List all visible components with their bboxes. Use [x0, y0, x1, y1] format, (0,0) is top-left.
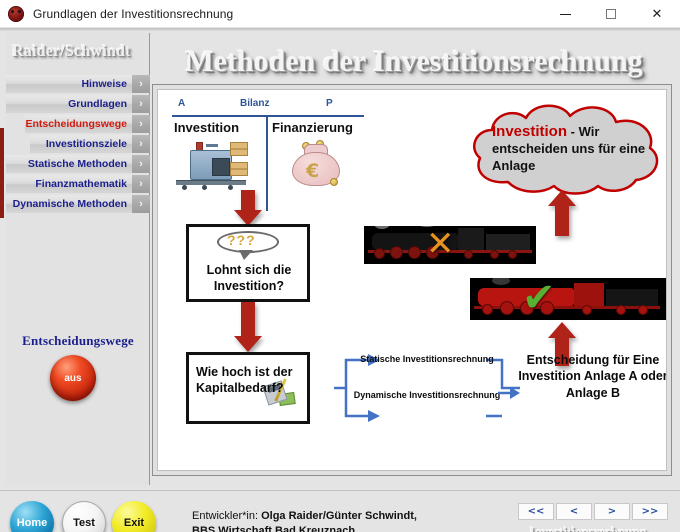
- sidebar-item-label: Grundlagen: [6, 95, 132, 113]
- content-stage: A Bilanz P Investition Finanzierung: [157, 89, 667, 471]
- chevron-right-icon: ›: [132, 135, 150, 153]
- sidebar-item-dynamische-methoden[interactable]: Dynamische Methoden ›: [6, 195, 150, 213]
- nav-last-button[interactable]: >>: [632, 503, 668, 520]
- exit-button[interactable]: Exit: [112, 501, 156, 532]
- maximize-button[interactable]: [588, 0, 634, 28]
- bilanz-center-label: Bilanz: [240, 98, 269, 109]
- machine-wheel: [228, 185, 233, 190]
- bubble-tail: [239, 250, 253, 260]
- arrow-shaft: [241, 302, 255, 336]
- speech-bubble-question-icon: ???: [217, 231, 283, 261]
- credits-names: Olga Raider/Günter Schwindt,: [261, 510, 417, 522]
- locomotive-wheel: [508, 250, 517, 259]
- question-box-text: Lohnt sich die Investition?: [196, 263, 302, 294]
- arrow-shaft: [241, 190, 255, 210]
- home-button[interactable]: Home: [10, 501, 54, 532]
- arrow-down-lohnt-icon: [234, 302, 262, 352]
- sidebar-section-title: Entscheidungswege: [6, 333, 150, 349]
- locomotive-wheel: [374, 248, 385, 259]
- chevron-right-icon: ›: [132, 175, 150, 193]
- smoke-puff: [374, 226, 390, 229]
- cross-mark-icon: ✕: [426, 230, 456, 260]
- nav-prev-button[interactable]: <: [556, 503, 592, 520]
- question-marks: ???: [227, 232, 256, 248]
- sidebar-item-label: Dynamische Methoden: [6, 195, 132, 213]
- arrow-head: [548, 190, 576, 206]
- bilanz-diagram: A Bilanz P Investition Finanzierung: [168, 96, 368, 214]
- sidebar-item-hinweise[interactable]: Hinweise ›: [6, 75, 150, 93]
- chevron-right-icon: ›: [132, 155, 150, 173]
- locomotive-wheel: [582, 305, 592, 315]
- bilanz-horizontal-rule: [172, 115, 364, 117]
- credits-institution: BBS Wirtschaft Bad Kreuznach: [192, 525, 355, 532]
- close-button[interactable]: ✕: [634, 0, 680, 28]
- chevron-right-icon: ›: [132, 115, 150, 133]
- flow-out-arrow-icon: [498, 386, 520, 400]
- minimize-icon: [560, 14, 571, 15]
- window-titlebar: Grundlagen der Investitionsrechnung ✕: [0, 0, 680, 28]
- coin-icon: [330, 178, 338, 186]
- sidebar-item-label: Investitionsziele: [30, 135, 132, 153]
- sidebar: Raider/Schwindt Hinweise › Grundlagen › …: [6, 33, 150, 485]
- locomotive-cab: [458, 228, 484, 250]
- red-locomotive-image: ✔: [470, 278, 666, 320]
- bilanz-left-word: Investition: [174, 120, 239, 135]
- package-box-icon: [230, 142, 248, 156]
- locomotive-wheel: [390, 246, 403, 259]
- money-bag-euro-clipart: €: [286, 140, 350, 190]
- navigation-arrows: << < > >>: [518, 503, 668, 520]
- credits-text: Entwickler*in: Olga Raider/Günter Schwin…: [192, 509, 492, 532]
- locomotive-wheel: [638, 305, 648, 315]
- machine-door: [212, 158, 230, 176]
- check-mark-icon: ✔: [522, 280, 556, 316]
- sidebar-item-label: Hinweise: [6, 75, 132, 93]
- locomotive-tender: [606, 289, 658, 306]
- sidebar-brand: Raider/Schwindt: [12, 43, 148, 61]
- cloud-highlight: Investition: [492, 123, 567, 140]
- locomotive-wheel: [490, 250, 499, 259]
- left-accent-strip: [0, 128, 4, 218]
- arrow-down-bilanz-icon: [234, 190, 262, 226]
- sidebar-item-statische-methoden[interactable]: Statische Methoden ›: [6, 155, 150, 173]
- smoke-puff: [492, 278, 510, 285]
- machine-conveyor: [176, 180, 246, 185]
- locomotive-wheel: [408, 246, 421, 259]
- app-body: Raider/Schwindt Hinweise › Grundlagen › …: [0, 28, 680, 532]
- sound-toggle-button[interactable]: aus: [50, 355, 96, 401]
- machine-wheel: [202, 185, 207, 190]
- sidebar-nav-list: Hinweise › Grundlagen › Entscheidungsweg…: [6, 75, 150, 215]
- bottom-bar: Home Test Exit Entwickler*in: Olga Raide…: [0, 490, 680, 532]
- package-box-icon: [230, 162, 248, 176]
- arrow-head: [234, 336, 262, 352]
- sidebar-item-investitionsziele[interactable]: Investitionsziele ›: [6, 135, 150, 153]
- chevron-right-icon: ›: [132, 75, 150, 93]
- app-bug-icon: [8, 6, 24, 22]
- machine-arm: [206, 144, 218, 147]
- test-button[interactable]: Test: [62, 501, 106, 532]
- locomotive-wheel: [482, 304, 493, 315]
- bilanz-right-word: Finanzierung: [272, 120, 353, 135]
- credits-prefix: Entwickler*in:: [192, 510, 261, 522]
- machine-wheel: [182, 185, 187, 190]
- sidebar-item-entscheidungswege[interactable]: Entscheidungswege ›: [6, 115, 150, 133]
- cloud-text: Investition - Wir entscheiden uns für ei…: [492, 122, 650, 174]
- locomotive-cab: [574, 283, 604, 306]
- question-box-kapital: Wie hoch ist der Kapitalbedarf?: [186, 352, 310, 424]
- decision-text: Entscheidung für Eine Investition Anlage…: [518, 352, 667, 401]
- question-box-text: Wie hoch ist der Kapitalbedarf?: [196, 365, 302, 396]
- chevron-right-icon: ›: [132, 195, 150, 213]
- flow-branch-bottom-label: Dynamische Investitionsrechnung: [352, 390, 502, 401]
- footer-brand: Investitionsrechnung: [508, 524, 668, 532]
- page-title: Methoden der Investitionsrechnung: [152, 44, 676, 80]
- application-window: Grundlagen der Investitionsrechnung ✕ Ra…: [0, 0, 680, 532]
- locomotive-tender: [486, 234, 530, 250]
- black-locomotive-image: ✕: [364, 226, 536, 264]
- thought-cloud: Investition - Wir entscheiden uns für ei…: [468, 100, 667, 196]
- nav-first-button[interactable]: <<: [518, 503, 554, 520]
- window-title: Grundlagen der Investitionsrechnung: [33, 7, 233, 21]
- sidebar-item-grundlagen[interactable]: Grundlagen ›: [6, 95, 150, 113]
- sidebar-item-label: Finanzmathematik: [6, 175, 132, 193]
- method-branch-flow: Statische Investitionsrechnung Dynamisch…: [334, 346, 524, 430]
- nav-next-button[interactable]: >: [594, 503, 630, 520]
- sidebar-item-label: Entscheidungswege: [25, 115, 132, 133]
- sidebar-item-label: Statische Methoden: [6, 155, 132, 173]
- arrow-head: [548, 322, 576, 338]
- minimize-button[interactable]: [542, 0, 588, 28]
- bilanz-left-code: A: [178, 98, 185, 109]
- bilanz-vertical-rule: [266, 115, 268, 211]
- content-frame: A Bilanz P Investition Finanzierung: [152, 84, 672, 476]
- question-box-lohnt: ??? Lohnt sich die Investition?: [186, 224, 310, 302]
- locomotive-wheel: [464, 250, 473, 259]
- arrow-shaft: [555, 206, 569, 236]
- euro-symbol-icon: €: [306, 160, 319, 182]
- sidebar-item-finanzmathematik[interactable]: Finanzmathematik ›: [6, 175, 150, 193]
- locomotive-wheel: [616, 305, 626, 315]
- bilanz-right-code: P: [326, 98, 333, 109]
- arrow-up-cloud-icon: [548, 190, 576, 236]
- locomotive-wheel: [500, 301, 514, 315]
- maximize-icon: [606, 9, 616, 19]
- flow-branch-top-label: Statische Investitionsrechnung: [352, 354, 502, 365]
- chevron-right-icon: ›: [132, 95, 150, 113]
